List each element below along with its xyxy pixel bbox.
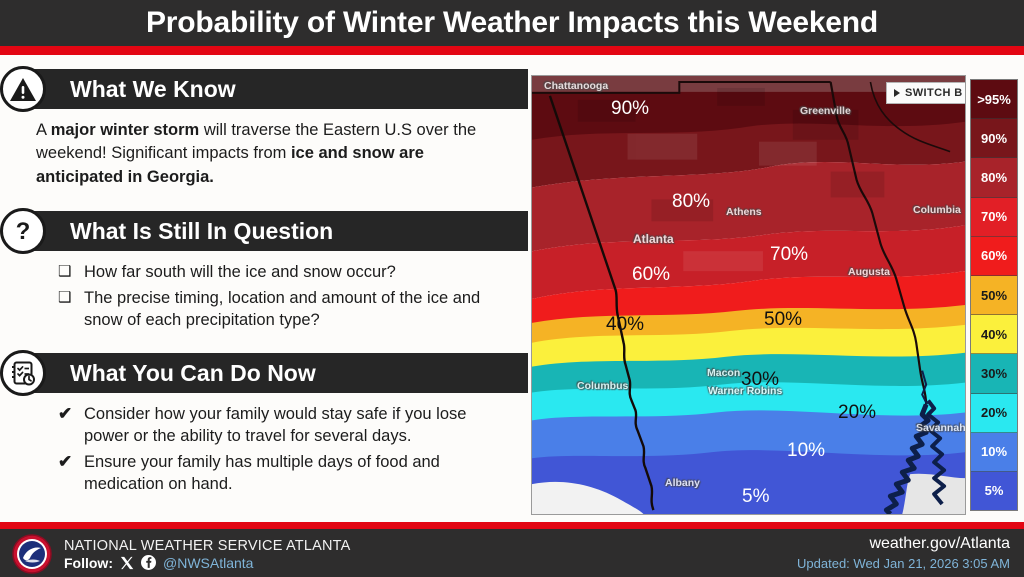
legend-cell-70: 70%: [971, 198, 1017, 237]
footer-text-lines: NATIONAL WEATHER SERVICE ATLANTA Follow:…: [64, 538, 351, 571]
list-item-label: The precise timing, location and amount …: [84, 289, 480, 329]
section-what-you-can-do-now: What You Can Do Now ✔ Consider how your …: [0, 353, 528, 495]
noaa-logo-icon: [12, 534, 52, 574]
checkmark-icon: ✔: [58, 403, 72, 426]
x-twitter-icon[interactable]: [120, 556, 134, 570]
question-bullet-list: ❑ How far south will the ice and snow oc…: [0, 251, 528, 331]
list-item: ✔ Ensure your family has multiple days o…: [58, 451, 508, 496]
list-item: ❑ The precise timing, location and amoun…: [58, 287, 508, 332]
footer-right-group: weather.gov/Atlanta Updated: Wed Jan 21,…: [797, 535, 1010, 571]
section-what-we-know: What We Know A major winter storm will t…: [0, 69, 528, 189]
probability-map[interactable]: Chattanooga Greenville Athens Atlanta Co…: [531, 75, 966, 515]
checkbox-icon: ❑: [58, 288, 71, 308]
legend-cell-20: 20%: [971, 394, 1017, 433]
checkbox-icon: ❑: [58, 262, 71, 282]
weather-graphic: Probability of Winter Weather Impacts th…: [0, 0, 1024, 577]
list-item-label: How far south will the ice and snow occu…: [84, 263, 396, 281]
social-handle[interactable]: @NWSAtlanta: [163, 555, 253, 571]
section-header: ? What Is Still In Question: [14, 211, 528, 251]
list-item-label: Ensure your family has multiple days of …: [84, 453, 440, 493]
title-divider: [0, 46, 1024, 55]
website-link[interactable]: weather.gov/Atlanta: [797, 535, 1010, 553]
footer-left-group: NATIONAL WEATHER SERVICE ATLANTA Follow:…: [12, 534, 351, 574]
page-title: Probability of Winter Weather Impacts th…: [146, 6, 878, 40]
footer-divider: [0, 522, 1024, 529]
legend-cell-10: 10%: [971, 433, 1017, 472]
play-triangle-icon: [894, 89, 900, 97]
list-item: ✔ Consider how your family would stay sa…: [58, 403, 508, 448]
facebook-icon[interactable]: [141, 555, 156, 570]
legend-cell-30: 30%: [971, 354, 1017, 393]
switch-basemap-button[interactable]: SWITCH B: [886, 82, 966, 104]
checklist-clipboard-icon: [0, 350, 46, 396]
section-heading: What Is Still In Question: [70, 218, 333, 245]
follow-label: Follow:: [64, 555, 113, 571]
section-heading: What We Know: [70, 76, 236, 103]
legend-cell-90: 90%: [971, 119, 1017, 158]
probability-legend: >95% 90% 80% 70% 60% 50% 40% 30% 20% 10%…: [970, 79, 1018, 511]
title-bar: Probability of Winter Weather Impacts th…: [0, 0, 1024, 46]
action-bullet-list: ✔ Consider how your family would stay sa…: [0, 393, 528, 495]
map-contour-canvas: [532, 76, 965, 514]
checkmark-icon: ✔: [58, 451, 72, 474]
legend-cell-80: 80%: [971, 158, 1017, 197]
list-item-label: Consider how your family would stay safe…: [84, 405, 466, 445]
question-mark-icon: ?: [0, 208, 46, 254]
switch-button-label: SWITCH B: [905, 87, 963, 99]
what-we-know-paragraph: A major winter storm will traverse the E…: [0, 109, 528, 189]
info-panel: What We Know A major winter storm will t…: [0, 55, 528, 522]
warning-triangle-icon: [0, 66, 46, 112]
list-item: ❑ How far south will the ice and snow oc…: [58, 261, 508, 283]
updated-timestamp: Updated: Wed Jan 21, 2026 3:05 AM: [797, 556, 1010, 571]
agency-name: NATIONAL WEATHER SERVICE ATLANTA: [64, 538, 351, 554]
legend-cell-50: 50%: [971, 276, 1017, 315]
legend-cell-gt95: >95%: [971, 80, 1017, 119]
legend-cell-40: 40%: [971, 315, 1017, 354]
legend-cell-5: 5%: [971, 472, 1017, 510]
footer-bar: NATIONAL WEATHER SERVICE ATLANTA Follow:…: [0, 529, 1024, 577]
section-what-is-still-in-question: ? What Is Still In Question ❑ How far so…: [0, 211, 528, 331]
follow-row: Follow: @NWSAtlanta: [64, 555, 351, 571]
section-header: What You Can Do Now: [14, 353, 528, 393]
legend-cell-60: 60%: [971, 237, 1017, 276]
svg-text:?: ?: [16, 218, 31, 245]
section-heading: What You Can Do Now: [70, 360, 316, 387]
section-header: What We Know: [14, 69, 528, 109]
